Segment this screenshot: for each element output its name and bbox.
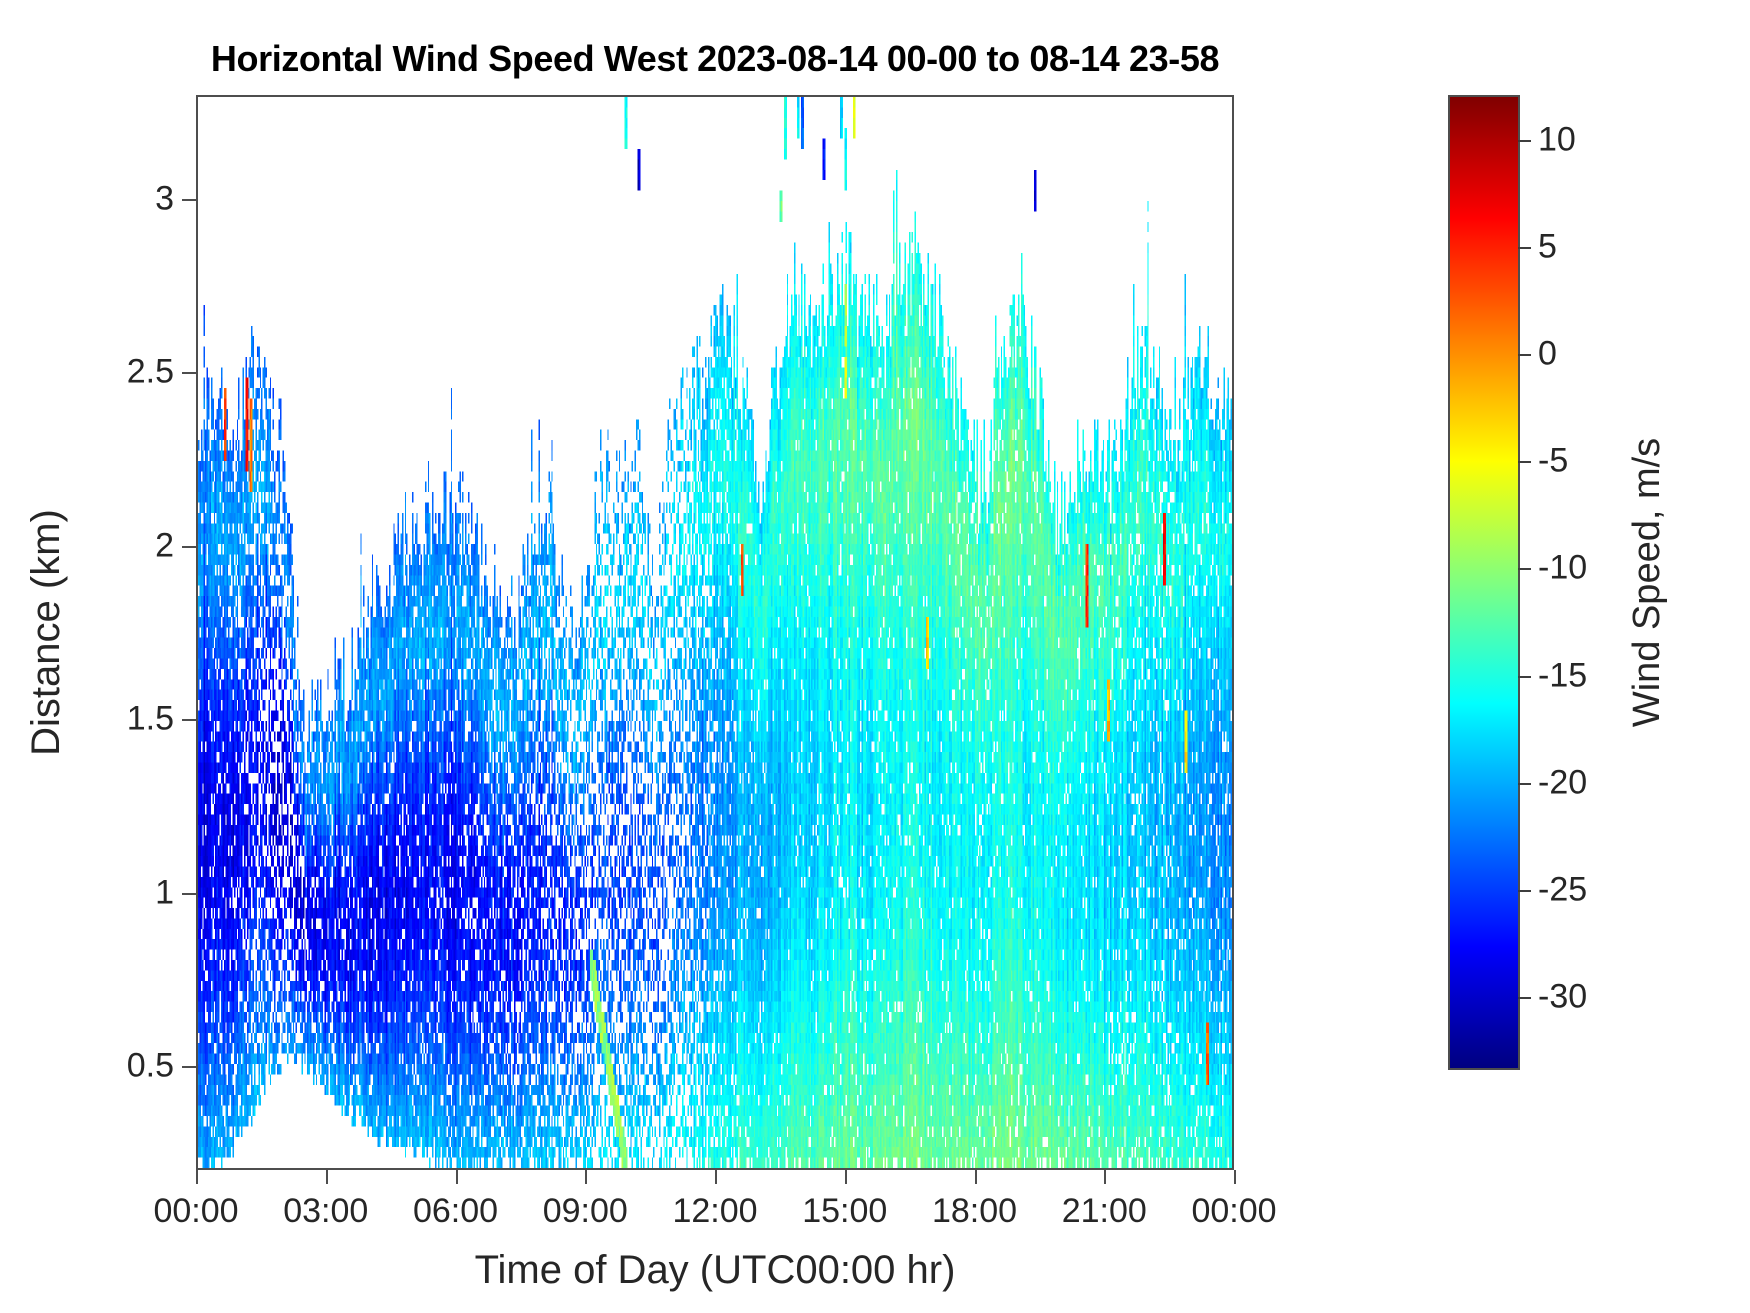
colorbar-label-text: Wind Speed, m/s bbox=[1627, 438, 1670, 727]
y-tick-label: 1.5 bbox=[127, 700, 174, 739]
x-tick-mark bbox=[196, 1170, 198, 1184]
colorbar-tick-mark bbox=[1518, 140, 1531, 142]
x-tick-mark bbox=[326, 1170, 328, 1184]
colorbar-tick-label: -30 bbox=[1538, 978, 1587, 1017]
x-tick-mark bbox=[1104, 1170, 1106, 1184]
colorbar-tick-mark bbox=[1518, 783, 1531, 785]
y-axis-label-text: Distance (km) bbox=[24, 509, 69, 756]
x-tick-mark bbox=[845, 1170, 847, 1184]
figure-root: Horizontal Wind Speed West 2023-08-14 00… bbox=[0, 0, 1750, 1313]
colorbar-tick-label: -10 bbox=[1538, 549, 1587, 588]
colorbar-tick-mark bbox=[1518, 461, 1531, 463]
colorbar-tick-label: 0 bbox=[1538, 335, 1557, 374]
colorbar-tick-label: -25 bbox=[1538, 870, 1587, 909]
colorbar-tick-label: 5 bbox=[1538, 228, 1557, 267]
chart-title: Horizontal Wind Speed West 2023-08-14 00… bbox=[196, 38, 1234, 80]
colorbar-tick-label: -5 bbox=[1538, 442, 1568, 481]
x-tick-label: 18:00 bbox=[932, 1192, 1017, 1231]
x-tick-label: 21:00 bbox=[1062, 1192, 1147, 1231]
y-tick-mark bbox=[182, 1066, 196, 1068]
x-tick-mark bbox=[975, 1170, 977, 1184]
colorbar: 1050-5-10-15-20-25-30 bbox=[1448, 95, 1520, 1070]
y-tick-mark bbox=[182, 719, 196, 721]
y-axis-label: Distance (km) bbox=[18, 95, 74, 1170]
axis-tick-layer: 32.521.510.500:0003:0006:0009:0012:0015:… bbox=[196, 95, 1234, 1170]
colorbar-tick-mark bbox=[1518, 568, 1531, 570]
x-tick-mark bbox=[715, 1170, 717, 1184]
y-tick-label: 3 bbox=[155, 180, 174, 219]
x-tick-mark bbox=[1234, 1170, 1236, 1184]
colorbar-tick-mark bbox=[1518, 247, 1531, 249]
x-tick-label: 15:00 bbox=[802, 1192, 887, 1231]
x-tick-label: 12:00 bbox=[672, 1192, 757, 1231]
x-tick-label: 09:00 bbox=[543, 1192, 628, 1231]
colorbar-tick-label: 10 bbox=[1538, 120, 1576, 159]
y-tick-label: 0.5 bbox=[127, 1046, 174, 1085]
x-tick-mark bbox=[585, 1170, 587, 1184]
y-tick-label: 2.5 bbox=[127, 353, 174, 392]
y-tick-mark bbox=[182, 546, 196, 548]
x-tick-mark bbox=[456, 1170, 458, 1184]
x-tick-label: 00:00 bbox=[1191, 1192, 1276, 1231]
y-tick-mark bbox=[182, 199, 196, 201]
y-tick-mark bbox=[182, 893, 196, 895]
colorbar-gradient bbox=[1450, 97, 1518, 1068]
x-tick-label: 00:00 bbox=[153, 1192, 238, 1231]
y-tick-mark bbox=[182, 372, 196, 374]
colorbar-tick-label: -15 bbox=[1538, 656, 1587, 695]
y-tick-label: 1 bbox=[155, 873, 174, 912]
x-tick-label: 03:00 bbox=[283, 1192, 368, 1231]
colorbar-tick-mark bbox=[1518, 997, 1531, 999]
colorbar-label: Wind Speed, m/s bbox=[1618, 95, 1678, 1070]
colorbar-tick-mark bbox=[1518, 676, 1531, 678]
x-axis-label: Time of Day (UTC00:00 hr) bbox=[196, 1248, 1234, 1293]
colorbar-tick-mark bbox=[1518, 890, 1531, 892]
colorbar-tick-label: -20 bbox=[1538, 763, 1587, 802]
y-tick-label: 2 bbox=[155, 526, 174, 565]
x-tick-label: 06:00 bbox=[413, 1192, 498, 1231]
colorbar-tick-mark bbox=[1518, 354, 1531, 356]
